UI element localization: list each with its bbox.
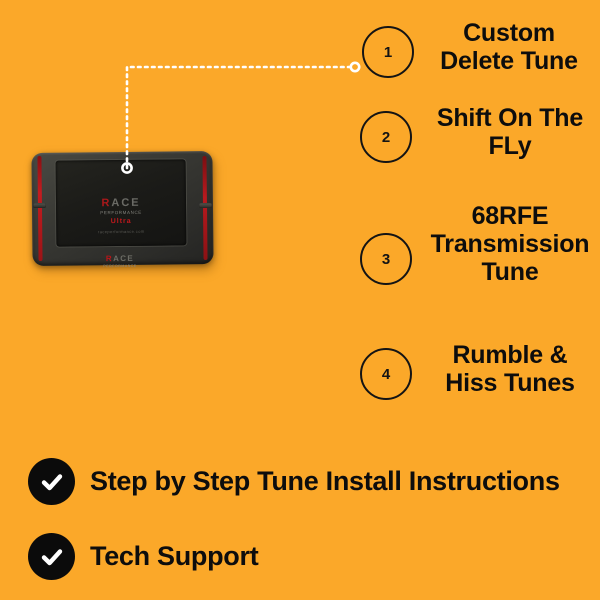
feature-number-3: 3: [382, 251, 390, 268]
check-badge-1: [28, 458, 75, 505]
feature-number-1: 1: [384, 44, 392, 61]
device-bezel-branding: RACE PERFORMANCE: [80, 249, 160, 269]
feature-number-badge-3: 3: [360, 233, 412, 285]
device-screen-url: raceperformance.com: [56, 228, 186, 234]
feature-label-2-line-1: Shift On The: [424, 104, 596, 132]
check-icon: [37, 542, 67, 572]
callout-connector: [0, 0, 600, 600]
promo-poster: RACE PERFORMANCE Ultra raceperformance.c…: [0, 0, 600, 600]
check-row-2: Tech Support: [28, 533, 258, 580]
feature-label-2: Shift On The FLy: [424, 104, 596, 160]
device-left-button: [33, 203, 46, 208]
feature-label-4-line-2: Hiss Tunes: [424, 369, 596, 397]
feature-label-1-line-1: Custom: [424, 19, 594, 47]
check-row-1: Step by Step Tune Install Instructions: [28, 458, 560, 505]
feature-number-badge-4: 4: [360, 348, 412, 400]
feature-label-3-line-3: Tune: [421, 258, 599, 286]
device-screen: RACE PERFORMANCE Ultra raceperformance.c…: [56, 159, 187, 246]
tuner-device-image: RACE PERFORMANCE Ultra raceperformance.c…: [28, 146, 220, 274]
feature-number-2: 2: [382, 129, 390, 146]
device-brand-sub-text: PERFORMANCE: [56, 210, 186, 216]
device-bezel-brand-text: RACE: [106, 254, 134, 263]
device-brand-text: RACE: [101, 197, 140, 209]
feature-label-1: Custom Delete Tune: [424, 19, 594, 75]
feature-label-1-line-2: Delete Tune: [424, 47, 594, 75]
feature-label-2-line-2: FLy: [424, 132, 596, 160]
feature-label-3-line-1: 68RFE: [421, 202, 599, 230]
feature-number-4: 4: [382, 366, 390, 383]
feature-label-4-line-1: Rumble &: [424, 341, 596, 369]
feature-label-4: Rumble & Hiss Tunes: [424, 341, 596, 397]
device-model-text: Ultra: [56, 217, 186, 225]
feature-label-3-line-2: Transmission: [421, 230, 599, 258]
device-right-button: [199, 203, 212, 208]
check-badge-2: [28, 533, 75, 580]
feature-label-3: 68RFE Transmission Tune: [421, 202, 599, 286]
check-icon: [37, 467, 67, 497]
feature-number-badge-2: 2: [360, 111, 412, 163]
check-label-2: Tech Support: [90, 541, 258, 572]
device-screen-branding: RACE PERFORMANCE Ultra: [56, 193, 186, 225]
connector-end-anchor-dot: [351, 63, 359, 71]
feature-number-badge-1: 1: [362, 26, 414, 78]
check-label-1: Step by Step Tune Install Instructions: [90, 466, 560, 497]
